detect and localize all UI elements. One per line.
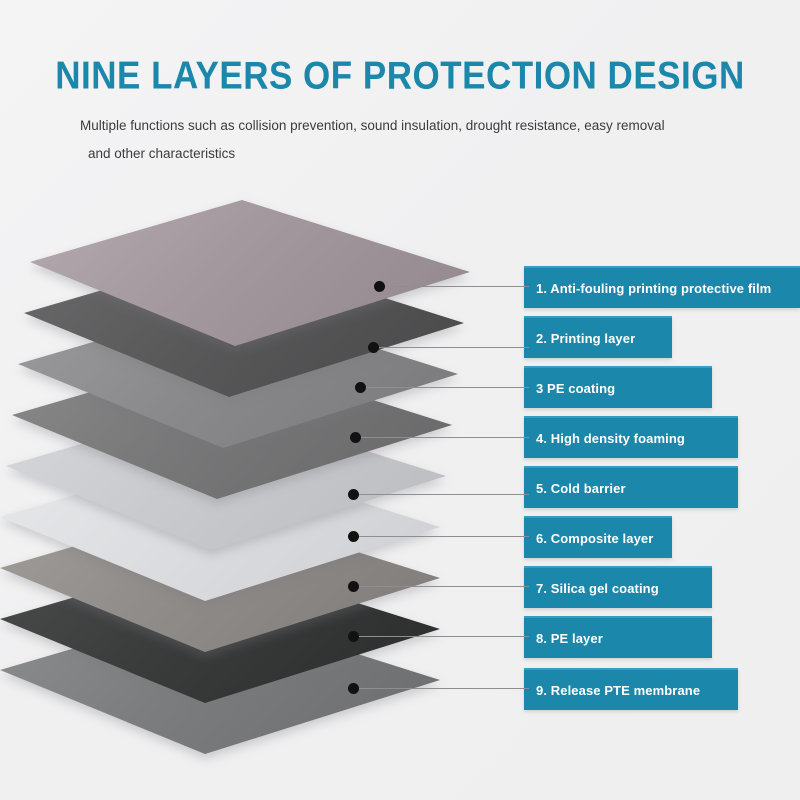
connector-line-8 xyxy=(357,636,529,637)
connector-layer-3 xyxy=(355,382,532,394)
connector-dot-8 xyxy=(348,631,359,642)
layer-label-box-3[interactable]: 3 PE coating xyxy=(524,366,712,408)
connector-line-4 xyxy=(359,437,529,438)
connector-layer-6 xyxy=(348,531,532,543)
layer-label-text-2: 2. Printing layer xyxy=(524,331,635,346)
infographic-canvas: NINE LAYERS OF PROTECTION DESIGN Multipl… xyxy=(0,0,800,800)
connector-line-3 xyxy=(364,387,529,388)
connector-line-5 xyxy=(357,494,529,495)
sheet-surface-1 xyxy=(30,200,470,350)
connector-line-6 xyxy=(357,536,529,537)
layer-label-text-3: 3 PE coating xyxy=(524,381,615,396)
layer-label-text-6: 6. Composite layer xyxy=(524,531,653,546)
connector-dot-6 xyxy=(348,531,359,542)
layer-label-box-6[interactable]: 6. Composite layer xyxy=(524,516,672,558)
connector-layer-8 xyxy=(348,631,532,643)
layer-label-text-9: 9. Release PTE membrane xyxy=(524,683,700,698)
layer-label-text-7: 7. Silica gel coating xyxy=(524,581,659,596)
connector-layer-2 xyxy=(368,342,532,354)
connector-dot-7 xyxy=(348,581,359,592)
layer-label-box-9[interactable]: 9. Release PTE membrane xyxy=(524,668,738,710)
connector-line-7 xyxy=(357,586,529,587)
connector-line-9 xyxy=(357,688,529,689)
layer-label-text-4: 4. High density foaming xyxy=(524,431,685,446)
layer-label-box-7[interactable]: 7. Silica gel coating xyxy=(524,566,712,608)
connector-layer-1 xyxy=(374,281,532,293)
layer-label-box-8[interactable]: 8. PE layer xyxy=(524,616,712,658)
layer-label-box-1[interactable]: 1. Anti-fouling printing protective film xyxy=(524,266,800,308)
layer-label-text-8: 8. PE layer xyxy=(524,631,603,646)
layer-label-list: 1. Anti-fouling printing protective film… xyxy=(524,0,800,800)
connector-layer-5 xyxy=(348,489,532,501)
layer-sheet-1 xyxy=(30,200,470,350)
connector-dot-5 xyxy=(348,489,359,500)
layer-label-box-5[interactable]: 5. Cold barrier xyxy=(524,466,738,508)
connector-layer-9 xyxy=(348,683,532,695)
connector-dot-4 xyxy=(350,432,361,443)
layer-label-box-4[interactable]: 4. High density foaming xyxy=(524,416,738,458)
connector-dot-1 xyxy=(374,281,385,292)
connector-dot-9 xyxy=(348,683,359,694)
layer-label-text-1: 1. Anti-fouling printing protective film xyxy=(524,281,771,296)
layer-label-box-2[interactable]: 2. Printing layer xyxy=(524,316,672,358)
connector-dot-2 xyxy=(368,342,379,353)
connector-dot-3 xyxy=(355,382,366,393)
connector-line-1 xyxy=(383,286,529,287)
connector-layer-7 xyxy=(348,581,532,593)
connector-line-2 xyxy=(377,347,529,348)
connector-layer-4 xyxy=(350,432,532,444)
layer-label-text-5: 5. Cold barrier xyxy=(524,481,626,496)
